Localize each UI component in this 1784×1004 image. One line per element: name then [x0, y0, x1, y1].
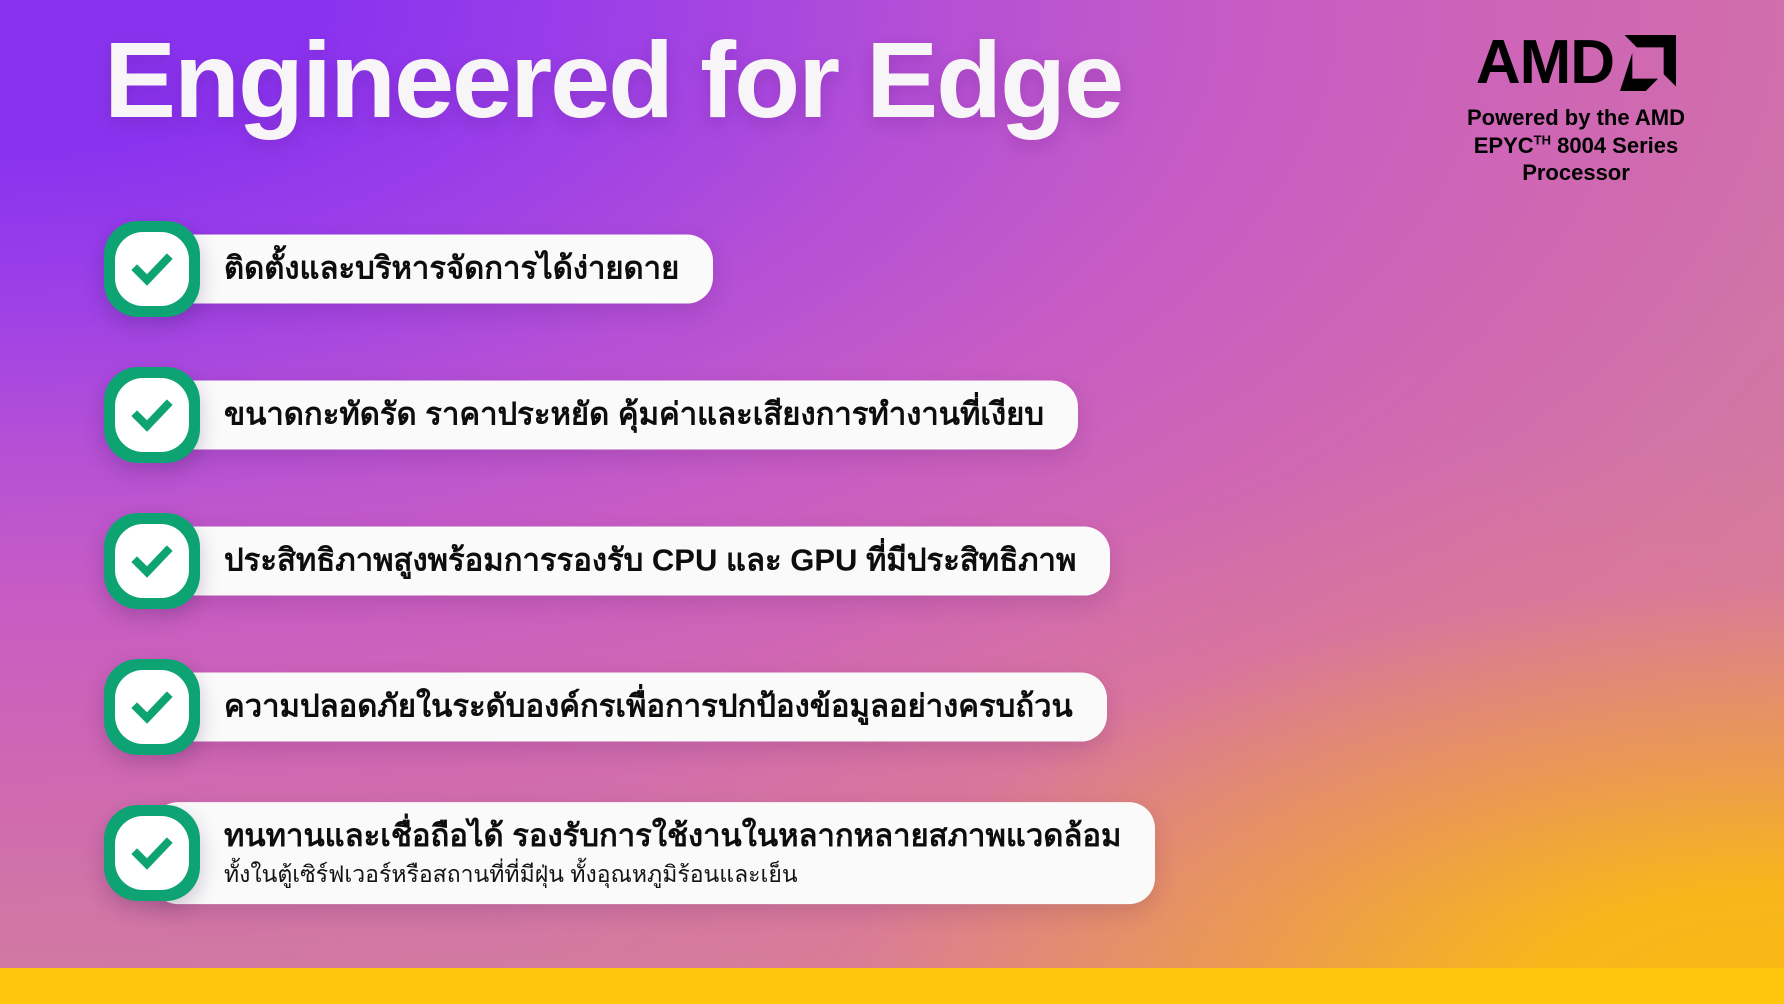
feature-pill: ติดตั้งและบริหารจัดการได้ง่ายดาย: [152, 235, 713, 304]
check-badge-inner: [115, 524, 189, 598]
amd-tagline-line3: Processor: [1426, 159, 1726, 187]
check-icon: [130, 393, 174, 437]
check-icon: [130, 831, 174, 875]
list-item: ขนาดกะทัดรัด ราคาประหยัด คุ้มค่าและเสียง…: [0, 342, 1784, 488]
check-badge: [104, 805, 200, 901]
feature-pill: ความปลอดภัยในระดับองค์กรเพื่อการปกป้องข้…: [152, 673, 1107, 742]
feature-pill: ทนทานและเชื่อถือได้ รองรับการใช้งานในหลา…: [152, 802, 1155, 904]
bottom-accent-bar: [0, 968, 1784, 1004]
check-badge-inner: [115, 670, 189, 744]
list-item: ประสิทธิภาพสูงพร้อมการรองรับ CPU และ GPU…: [0, 488, 1784, 634]
amd-epyc-sup: TH: [1534, 132, 1551, 147]
amd-series-text: 8004 Series: [1551, 133, 1678, 158]
page-title: Engineered for Edge: [104, 26, 1122, 134]
check-badge: [104, 221, 200, 317]
check-badge: [104, 513, 200, 609]
feature-list: ติดตั้งและบริหารจัดการได้ง่ายดาย ขนาดกะท…: [0, 196, 1784, 926]
slide-root: Engineered for Edge AMD Powered by the A…: [0, 0, 1784, 1004]
list-item: ความปลอดภัยในระดับองค์กรเพื่อการปกป้องข้…: [0, 634, 1784, 780]
check-badge: [104, 659, 200, 755]
check-icon: [130, 685, 174, 729]
list-item: ติดตั้งและบริหารจัดการได้ง่ายดาย: [0, 196, 1784, 342]
feature-title: ความปลอดภัยในระดับองค์กรเพื่อการปกป้องข้…: [224, 687, 1073, 728]
amd-arrow-mark: [1620, 35, 1676, 91]
feature-pill: ขนาดกะทัดรัด ราคาประหยัด คุ้มค่าและเสียง…: [152, 381, 1078, 450]
check-badge: [104, 367, 200, 463]
check-badge-inner: [115, 816, 189, 890]
check-icon: [130, 247, 174, 291]
amd-branding-block: AMD Powered by the AMD EPYCTH 8004 Serie…: [1426, 32, 1726, 187]
list-item: ทนทานและเชื่อถือได้ รองรับการใช้งานในหลา…: [0, 780, 1784, 926]
amd-tagline-line1: Powered by the AMD: [1426, 104, 1726, 132]
feature-title: ทนทานและเชื่อถือได้ รองรับการใช้งานในหลา…: [224, 816, 1121, 857]
check-icon: [130, 539, 174, 583]
amd-tagline-line2: EPYCTH 8004 Series: [1426, 132, 1726, 160]
amd-tagline: Powered by the AMD EPYCTH 8004 Series Pr…: [1426, 104, 1726, 187]
check-badge-inner: [115, 378, 189, 452]
feature-title: ประสิทธิภาพสูงพร้อมการรองรับ CPU และ GPU…: [224, 541, 1076, 582]
amd-epyc-text: EPYC: [1474, 133, 1534, 158]
feature-title: ขนาดกะทัดรัด ราคาประหยัด คุ้มค่าและเสียง…: [224, 395, 1044, 436]
check-badge-inner: [115, 232, 189, 306]
amd-logo: AMD: [1426, 32, 1726, 94]
amd-wordmark: AMD: [1476, 32, 1614, 94]
feature-subtitle: ทั้งในตู้เซิร์ฟเวอร์หรือสถานที่ที่มีฝุ่น…: [224, 859, 1121, 890]
feature-pill: ประสิทธิภาพสูงพร้อมการรองรับ CPU และ GPU…: [152, 527, 1110, 596]
feature-title: ติดตั้งและบริหารจัดการได้ง่ายดาย: [224, 249, 679, 290]
